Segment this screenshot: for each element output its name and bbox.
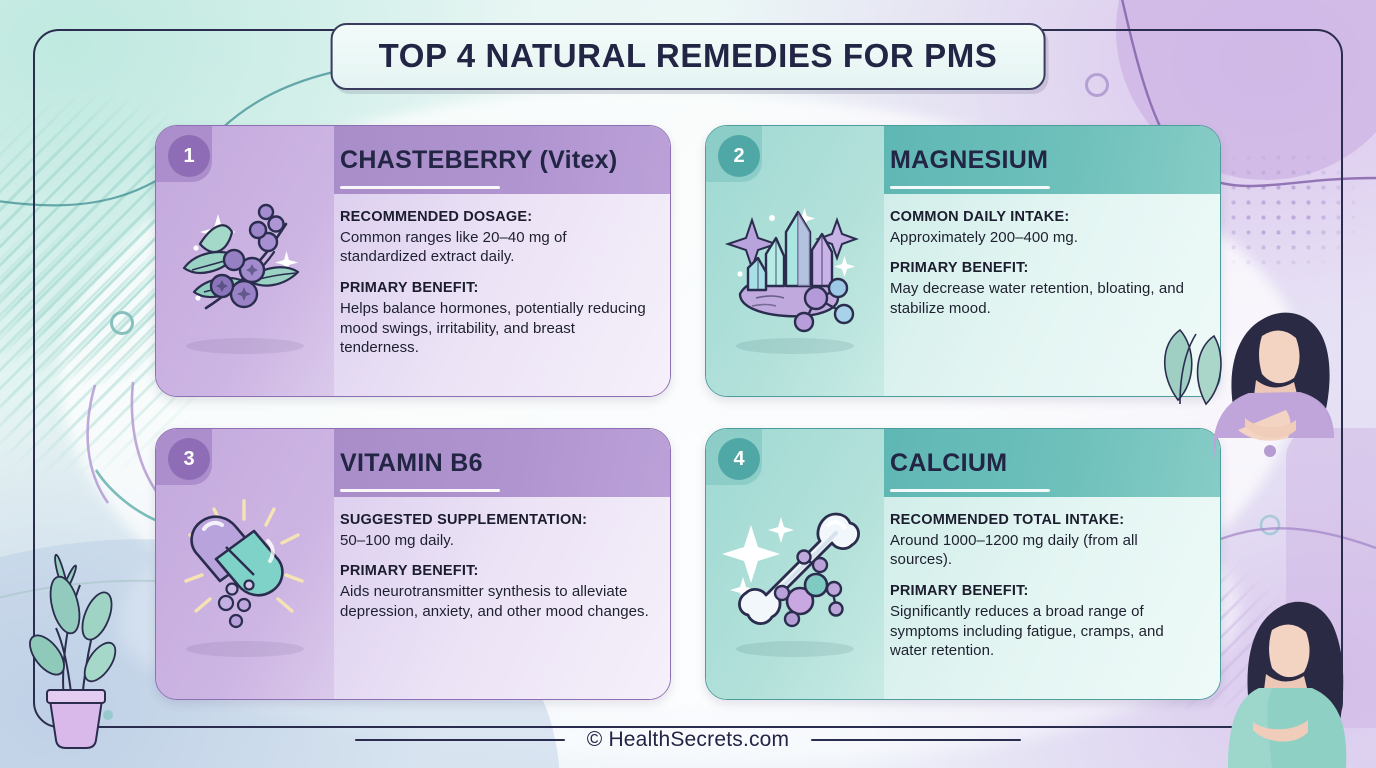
remedy-card-grid: 1 [155, 125, 1221, 700]
field-value: Significantly reduces a broad range of s… [890, 602, 1202, 661]
card-field: SUGGESTED SUPPLEMENTATION: 50–100 mg dai… [340, 511, 652, 550]
header-underline [340, 489, 500, 492]
icon-shadow [186, 641, 304, 657]
field-label: PRIMARY BENEFIT: [890, 582, 1202, 602]
field-label: SUGGESTED SUPPLEMENTATION: [340, 511, 652, 531]
card-header: CALCIUM [884, 429, 1220, 497]
field-value: May decrease water retention, bloating, … [890, 279, 1202, 319]
card-field: PRIMARY BENEFIT: May decrease water rete… [890, 259, 1202, 318]
field-label: PRIMARY BENEFIT: [340, 279, 652, 299]
field-label: RECOMMENDED TOTAL INTAKE: [890, 511, 1202, 531]
remedy-card-calcium[interactable]: 4 [705, 428, 1221, 700]
ring-outline-top-right [1087, 75, 1108, 96]
ring-outline-left [112, 313, 133, 334]
icon-shadow [186, 338, 304, 354]
field-value: 50–100 mg daily. [340, 531, 652, 551]
card-body: RECOMMENDED TOTAL INTAKE: Around 1000–12… [884, 497, 1220, 699]
card-field: PRIMARY BENEFIT: Aids neurotransmitter s… [340, 562, 652, 621]
card-field: RECOMMENDED DOSAGE: Common ranges like 2… [340, 208, 652, 267]
remedy-card-vitamin-b6[interactable]: 3 [155, 428, 671, 700]
header-underline [340, 186, 500, 189]
card-header: CHASTEBERRY (Vitex) [334, 126, 670, 194]
right-edge-shape [1286, 428, 1376, 728]
card-body: SUGGESTED SUPPLEMENTATION: 50–100 mg dai… [334, 497, 670, 699]
badge-number: 2 [718, 135, 760, 177]
card-field: COMMON DAILY INTAKE: Approximately 200–4… [890, 208, 1202, 247]
page-title-container: TOP 4 NATURAL REMEDIES FOR PMS [331, 23, 1046, 90]
card-content: MAGNESIUM COMMON DAILY INTAKE: Approxima… [884, 126, 1220, 396]
footer-credit: © HealthSecrets.com [587, 728, 790, 752]
card-number-badge: 3 [156, 429, 230, 503]
field-value: Aids neurotransmitter synthesis to allev… [340, 582, 652, 622]
header-underline [890, 489, 1050, 492]
field-label: PRIMARY BENEFIT: [340, 562, 652, 582]
card-field: RECOMMENDED TOTAL INTAKE: Around 1000–12… [890, 511, 1202, 570]
field-label: PRIMARY BENEFIT: [890, 259, 1202, 279]
field-label: COMMON DAILY INTAKE: [890, 208, 1202, 228]
card-title: CHASTEBERRY (Vitex) [340, 148, 618, 173]
card-number-badge: 4 [706, 429, 780, 503]
card-field: PRIMARY BENEFIT: Significantly reduces a… [890, 582, 1202, 661]
card-body: COMMON DAILY INTAKE: Approximately 200–4… [884, 194, 1220, 396]
field-value: Around 1000–1200 mg daily (from all sour… [890, 531, 1202, 571]
remedy-card-chasteberry[interactable]: 1 [155, 125, 671, 397]
header-underline [890, 186, 1050, 189]
icon-shadow [736, 641, 854, 657]
card-number-badge: 2 [706, 126, 780, 200]
sparkle-icon-right [1236, 390, 1280, 434]
card-title: CALCIUM [890, 451, 1007, 476]
field-value: Approximately 200–400 mg. [890, 228, 1202, 248]
badge-number: 3 [168, 438, 210, 480]
card-body: RECOMMENDED DOSAGE: Common ranges like 2… [334, 194, 670, 396]
card-number-badge: 1 [156, 126, 230, 200]
page-title: TOP 4 NATURAL REMEDIES FOR PMS [379, 39, 998, 72]
footer: © HealthSecrets.com [0, 728, 1376, 752]
arc-stroke-1 [88, 385, 108, 503]
field-label: RECOMMENDED DOSAGE: [340, 208, 652, 228]
card-content: CALCIUM RECOMMENDED TOTAL INTAKE: Around… [884, 429, 1220, 699]
card-content: VITAMIN B6 SUGGESTED SUPPLEMENTATION: 50… [334, 429, 670, 699]
arc-stroke-3 [96, 470, 160, 522]
card-title: MAGNESIUM [890, 148, 1048, 173]
remedy-card-magnesium[interactable]: 2 [705, 125, 1221, 397]
card-field: PRIMARY BENEFIT: Helps balance hormones,… [340, 279, 652, 358]
badge-number: 4 [718, 438, 760, 480]
ring-outline-right [1261, 516, 1279, 534]
footer-rule-left [355, 739, 565, 741]
card-header: MAGNESIUM [884, 126, 1220, 194]
dot-accent-right [1264, 445, 1276, 457]
footer-rule-right [811, 739, 1021, 741]
field-value: Common ranges like 20–40 mg of standardi… [340, 228, 652, 268]
badge-number: 1 [168, 135, 210, 177]
dot-accent-left [103, 710, 113, 720]
card-header: VITAMIN B6 [334, 429, 670, 497]
card-title: VITAMIN B6 [340, 451, 483, 476]
field-value: Helps balance hormones, potentially redu… [340, 299, 652, 358]
icon-shadow [736, 338, 854, 354]
card-content: CHASTEBERRY (Vitex) RECOMMENDED DOSAGE: … [334, 126, 670, 396]
